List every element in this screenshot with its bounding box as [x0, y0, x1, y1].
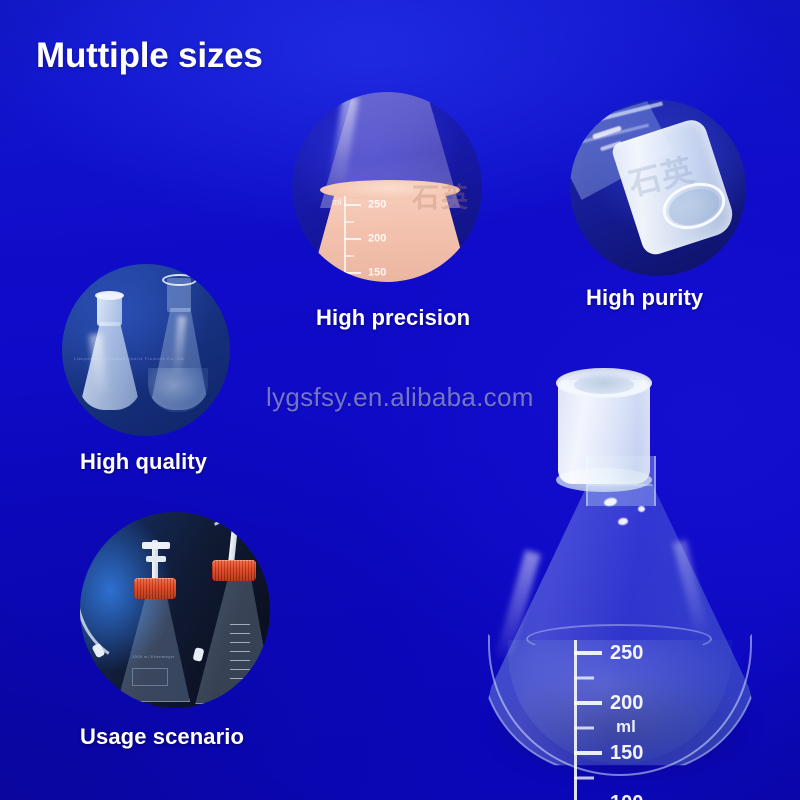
- photo-usage-scenario-scene: 1000 ml Erlenmeyer: [80, 512, 270, 708]
- graduation-label: 250: [368, 199, 386, 210]
- graduation-tick: [344, 221, 354, 223]
- graduation-label: 150: [368, 267, 386, 278]
- graduation-tick: [574, 751, 602, 755]
- graduation-label: 200: [610, 693, 643, 713]
- photo-high-quality[interactable]: Lianyungang Guoshan Quartz Products Co.,…: [62, 264, 230, 436]
- graduation-tick: [344, 238, 361, 240]
- photo-high-purity-scene: 石英: [570, 100, 746, 276]
- screw-cap-left: [134, 578, 176, 599]
- site-watermark: lygsfsy.en.alibaba.com: [266, 382, 534, 413]
- graduation-tick: [574, 676, 594, 679]
- tubing-tip-right: [193, 647, 205, 662]
- etched-logo-mark: 石英: [412, 176, 470, 215]
- photo-usage-scenario[interactable]: 1000 ml Erlenmeyer: [80, 512, 270, 708]
- caption-high-precision: High precision: [316, 305, 470, 331]
- graduation-unit-label: ml: [332, 198, 342, 207]
- hero-erlenmeyer-flask[interactable]: 250 200 150 100: [452, 372, 794, 796]
- graduation-tick: [574, 701, 602, 705]
- graduation-tick: [574, 651, 602, 655]
- cap-ridges: [134, 578, 176, 599]
- tubing-connector: [142, 542, 170, 549]
- graduation-tick: [574, 776, 594, 779]
- flask-printed-text: 1000 ml Erlenmeyer: [132, 654, 175, 659]
- screw-cap-right: [212, 560, 256, 581]
- graduation-tick: [344, 255, 354, 257]
- graduation-tick: [344, 204, 361, 206]
- flask-label-panel: [132, 668, 168, 686]
- photo-watermark-text: Lianyungang Guoshan Quartz Products Co.,…: [74, 356, 220, 361]
- photo-high-precision[interactable]: 石英 ml 250 200: [292, 92, 482, 282]
- photo-high-purity[interactable]: 石英: [570, 100, 746, 276]
- cap-ridges: [212, 560, 256, 581]
- graduation-tick: [344, 272, 361, 274]
- graduation-tick: [574, 726, 594, 729]
- specular-glint: [638, 506, 645, 512]
- photo-high-precision-scene: 石英 ml 250 200: [292, 92, 482, 282]
- photo-high-quality-scene: Lianyungang Guoshan Quartz Products Co.,…: [62, 264, 230, 436]
- graduation-label: 250: [610, 643, 643, 663]
- joint-bore: [574, 376, 634, 394]
- page-title: Muttiple sizes: [36, 36, 263, 76]
- graduation-unit-label: ml: [616, 718, 636, 735]
- graduation-label: 200: [368, 233, 386, 244]
- caption-high-quality: High quality: [80, 449, 207, 475]
- frosted-flask-lip: [95, 291, 124, 300]
- clear-flask-lip: [162, 274, 197, 286]
- tubing-connector-secondary: [146, 556, 166, 562]
- clear-flask-base: [148, 368, 208, 412]
- graduation-label: 100: [610, 793, 643, 800]
- product-banner: Lianyungang Guoshan Quartz Products Co.,…: [0, 0, 800, 800]
- graduation-label: 150: [610, 743, 643, 763]
- caption-high-purity: High purity: [586, 285, 703, 311]
- flask-graduation-marks: [230, 624, 250, 680]
- caption-usage-scenario: Usage scenario: [80, 724, 244, 750]
